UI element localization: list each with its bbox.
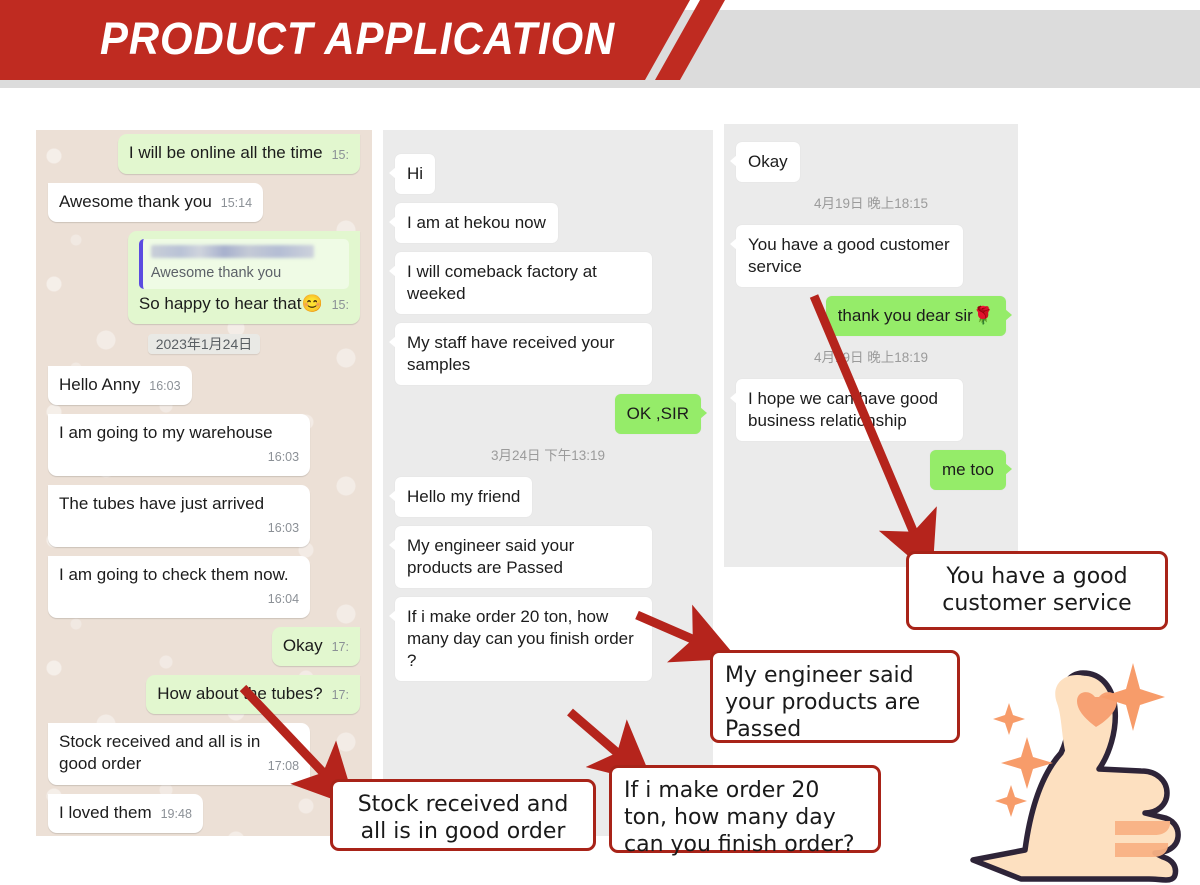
message-row: Hello my friend — [395, 477, 701, 517]
chat-bubble[interactable]: I am going to my warehouse16:03 — [48, 414, 310, 476]
message-row: If i make order 20 ton, how many day can… — [395, 597, 701, 681]
message-text: I am at hekou now — [407, 213, 546, 232]
message-text: So happy to hear that — [139, 294, 302, 313]
chat-bubble[interactable]: My engineer said your products are Passe… — [395, 526, 652, 588]
chat-bubble[interactable]: The tubes have just arrived16:03 — [48, 485, 310, 547]
message-text: Stock received and all is in good order — [59, 732, 260, 773]
chat-column-wechat-2[interactable]: Okay4月19日 晚上18:15You have a good custome… — [724, 124, 1018, 567]
message-row: I am going to check them now.16:04 — [48, 556, 360, 618]
chat-bubble[interactable]: You have a good customer service — [736, 225, 963, 287]
message-row: Stock received and all is in good order1… — [48, 723, 360, 785]
chat-bubble[interactable]: I loved them19:48 — [48, 794, 203, 833]
date-separator: 2023年1月24日 — [48, 334, 360, 354]
message-timestamp: 15: — [332, 144, 349, 166]
chat-bubble[interactable]: OK ,SIR — [615, 394, 701, 434]
chat-bubble[interactable]: thank you dear sir🌹 — [826, 296, 1006, 336]
message-row: thank you dear sir🌹 — [736, 296, 1006, 336]
page-header: PRODUCT APPLICATION — [0, 0, 1200, 88]
message-row: You have a good customer service — [736, 225, 1006, 287]
message-text: I loved them — [59, 803, 152, 822]
message-timestamp: 17: — [332, 684, 349, 706]
date-separator: 4月19日 晚上18:19 — [736, 346, 1006, 367]
message-text: You have a good customer service — [748, 235, 950, 276]
message-text: I will be online all the time — [129, 143, 323, 162]
message-text: Awesome thank you — [59, 192, 212, 211]
chat-bubble[interactable]: I will comeback factory at weeked — [395, 252, 652, 314]
chat-bubble[interactable]: Hi — [395, 154, 435, 194]
message-timestamp: 16:03 — [149, 375, 180, 397]
message-text: My staff have received your samples — [407, 333, 615, 374]
message-row: Awesome thank youSo happy to hear that😊1… — [48, 231, 360, 324]
message-list: Okay4月19日 晚上18:15You have a good custome… — [724, 132, 1018, 509]
emoji-icon: 🌹 — [973, 306, 994, 325]
chat-bubble[interactable]: I am at hekou now — [395, 203, 558, 243]
message-row: I am going to my warehouse16:03 — [48, 414, 360, 476]
chat-bubble[interactable]: My staff have received your samples — [395, 323, 652, 385]
message-text: Okay — [748, 152, 788, 171]
emoji-icon: 😊 — [301, 294, 322, 313]
chat-column-whatsapp[interactable]: I will be online all the time15:Awesome … — [36, 130, 372, 836]
message-text: Hi — [407, 164, 423, 183]
chat-bubble[interactable]: I am going to check them now.16:04 — [48, 556, 310, 618]
callout-stock-received: Stock received and all is in good order — [330, 779, 596, 851]
message-text: I am going to my warehouse — [59, 423, 273, 442]
message-row: OK ,SIR — [395, 394, 701, 434]
message-timestamp: 17:08 — [268, 755, 299, 777]
message-row: I will comeback factory at weeked — [395, 252, 701, 314]
message-row: Okay17: — [48, 627, 360, 666]
message-text: me too — [942, 460, 994, 479]
callout-customer-service: You have a good customer service — [906, 551, 1168, 630]
message-text: Hello my friend — [407, 487, 520, 506]
message-text: Hello Anny — [59, 375, 140, 394]
message-text: I hope we can have good business relatio… — [748, 389, 938, 430]
message-text: thank you dear sir — [838, 306, 973, 325]
chat-bubble[interactable]: If i make order 20 ton, how many day can… — [395, 597, 652, 681]
message-row: I loved them19:48 — [48, 794, 360, 833]
chat-bubble[interactable]: Hello Anny16:03 — [48, 366, 192, 405]
chat-bubble[interactable]: me too — [930, 450, 1006, 490]
message-text: OK ,SIR — [627, 404, 689, 423]
message-list: HiI am at hekou nowI will comeback facto… — [383, 144, 713, 700]
message-row: I will be online all the time15: — [48, 134, 360, 174]
message-timestamp: 16:04 — [268, 588, 299, 610]
message-timestamp: 17: — [332, 636, 349, 658]
chat-bubble[interactable]: I hope we can have good business relatio… — [736, 379, 963, 441]
chat-bubble[interactable]: How about the tubes?17: — [146, 675, 360, 714]
message-timestamp: 15: — [332, 294, 349, 316]
message-row: Hello Anny16:03 — [48, 366, 360, 405]
message-row: I hope we can have good business relatio… — [736, 379, 1006, 441]
message-list: I will be online all the time15:Awesome … — [36, 130, 372, 836]
quoted-reply[interactable]: Awesome thank you — [139, 239, 349, 289]
message-row: I am at hekou now — [395, 203, 701, 243]
thumbs-up-icon — [965, 645, 1197, 885]
message-row: My staff have received your samples — [395, 323, 701, 385]
message-row: Awesome thank you15:14 — [48, 183, 360, 222]
chat-bubble[interactable]: Okay — [736, 142, 800, 182]
date-separator: 4月19日 晚上18:15 — [736, 192, 1006, 213]
callout-order-question: If i make order 20 ton, how many day can… — [609, 765, 881, 853]
date-separator-label: 2023年1月24日 — [148, 334, 261, 354]
message-timestamp: 16:03 — [268, 517, 299, 539]
chat-bubble[interactable]: Hello my friend — [395, 477, 532, 517]
message-timestamp: 15:14 — [221, 192, 252, 214]
page-title: PRODUCT APPLICATION — [100, 8, 615, 70]
date-separator-label: 4月19日 晚上18:15 — [806, 194, 936, 213]
chat-bubble[interactable]: Awesome thank youSo happy to hear that😊1… — [128, 231, 360, 324]
message-row: How about the tubes?17: — [48, 675, 360, 714]
date-separator-label: 4月19日 晚上18:19 — [806, 348, 936, 367]
chat-column-wechat-1[interactable]: HiI am at hekou nowI will comeback facto… — [383, 130, 713, 836]
message-timestamp: 16:03 — [268, 446, 299, 468]
message-row: me too — [736, 450, 1006, 490]
date-separator-label: 3月24日 下午13:19 — [483, 446, 613, 465]
date-separator: 3月24日 下午13:19 — [395, 444, 701, 465]
message-row: Okay — [736, 142, 1006, 182]
message-text: How about the tubes? — [157, 684, 322, 703]
message-text: My engineer said your products are Passe… — [407, 536, 574, 577]
message-text: Okay — [283, 636, 323, 655]
message-text: If i make order 20 ton, how many day can… — [407, 607, 634, 670]
chat-bubble[interactable]: I will be online all the time15: — [118, 134, 360, 174]
chat-bubble[interactable]: Okay17: — [272, 627, 360, 666]
message-row: My engineer said your products are Passe… — [395, 526, 701, 588]
chat-bubble[interactable]: Awesome thank you15:14 — [48, 183, 263, 222]
quoted-text: Awesome thank you — [151, 264, 341, 282]
chat-bubble[interactable]: Stock received and all is in good order1… — [48, 723, 310, 785]
message-row: The tubes have just arrived16:03 — [48, 485, 360, 547]
message-row: Hi — [395, 154, 701, 194]
message-timestamp: 19:48 — [161, 803, 192, 825]
message-text: The tubes have just arrived — [59, 494, 264, 513]
quoted-sender-redacted — [151, 245, 315, 258]
message-text: I will comeback factory at weeked — [407, 262, 597, 303]
callout-engineer-passed: My engineer said your products are Passe… — [710, 650, 960, 743]
message-text: I am going to check them now. — [59, 565, 289, 584]
